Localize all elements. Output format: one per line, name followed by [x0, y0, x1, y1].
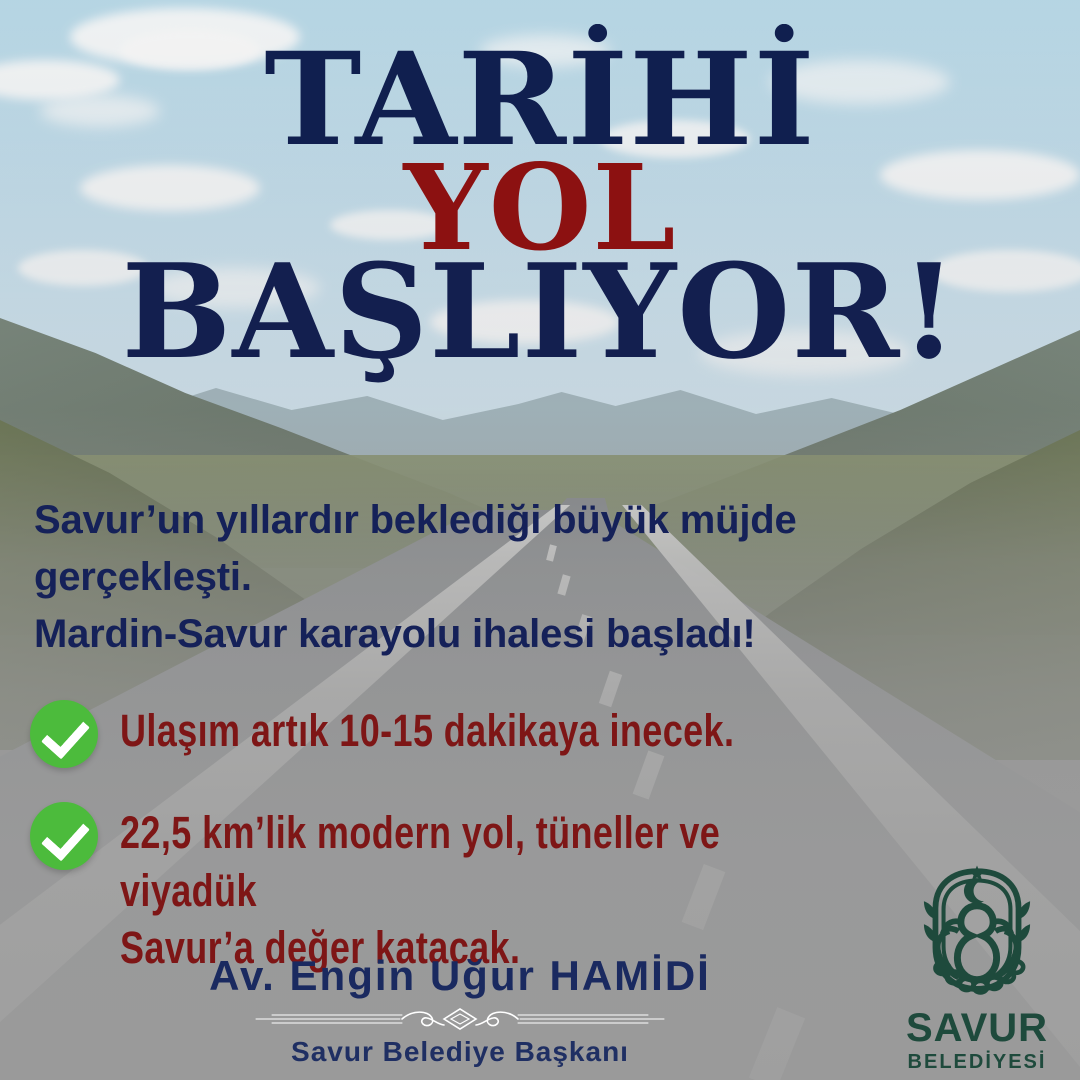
check-circle-icon	[30, 802, 98, 870]
headline-line-1: TARİHİ	[0, 42, 1080, 160]
savur-municipality-emblem-icon	[902, 862, 1052, 1012]
poster-root: TARİHİ YOL BAŞLIYOR! Savur’un yıllardır …	[0, 0, 1080, 1080]
poster-content: TARİHİ YOL BAŞLIYOR! Savur’un yıllardır …	[0, 0, 1080, 1080]
signature-role: Savur Belediye Başkanı	[0, 1036, 920, 1068]
flourish-divider-icon	[250, 1004, 670, 1034]
logo-title: SAVUR	[892, 1008, 1062, 1048]
subtitle-line-2: gerçekleşti.	[34, 549, 1020, 606]
municipality-logo: SAVUR BELEDİYESİ	[892, 862, 1062, 1072]
subtitle-block: Savur’un yıllardır beklediği büyük müjde…	[34, 492, 1020, 662]
subtitle-line-1: Savur’un yıllardır beklediği büyük müjde	[34, 492, 1020, 549]
headline-line-3: BAŞLIYOR!	[0, 252, 1080, 372]
signature-block: Av. Engin Uğur HAMİDİ Savur Belediye Baş…	[0, 952, 920, 1068]
list-item: Ulaşım artık 10-15 dakikaya inecek.	[30, 700, 1020, 768]
list-item: 22,5 km’lik modern yol, tüneller ve viya…	[30, 802, 1020, 977]
bullet-text: 22,5 km’lik modern yol, tüneller ve viya…	[120, 802, 840, 977]
headline: TARİHİ YOL BAŞLIYOR!	[0, 42, 1080, 372]
signature-name: Av. Engin Uğur HAMİDİ	[0, 952, 920, 1000]
logo-subtitle: BELEDİYESİ	[892, 1052, 1062, 1072]
check-circle-icon	[30, 700, 98, 768]
bullet-text: Ulaşım artık 10-15 dakikaya inecek.	[120, 700, 734, 760]
subtitle-line-3: Mardin-Savur karayolu ihalesi başladı!	[34, 606, 1020, 663]
